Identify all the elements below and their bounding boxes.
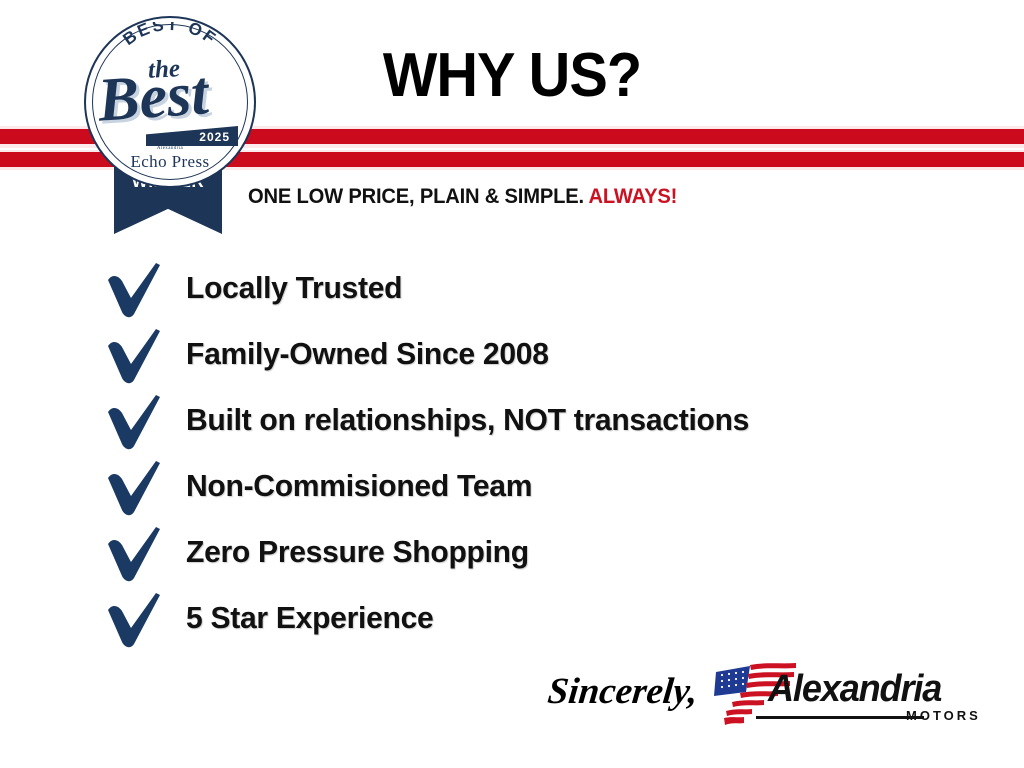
badge-script-best: Best (96, 62, 210, 132)
check-icon (104, 460, 168, 520)
badge-arc-label: BEST OF (119, 22, 220, 49)
check-icon (104, 262, 168, 322)
tagline-accent: ALWAYS! (589, 185, 678, 208)
badge-year: 2025 (199, 130, 230, 144)
check-icon (104, 328, 168, 388)
benefit-row: Family-Owned Since 2008 (104, 328, 1004, 394)
badge-circle: BEST OF the Best 2025 Alexandria Echo Pr… (84, 16, 256, 188)
benefit-label: Family-Owned Since 2008 (186, 336, 549, 372)
check-icon (104, 394, 168, 454)
benefit-row: 5 Star Experience (104, 592, 1004, 658)
badge-publication-pre: Alexandria (86, 146, 254, 151)
benefit-row: Zero Pressure Shopping (104, 526, 1004, 592)
benefit-label: Locally Trusted (186, 270, 402, 306)
dealer-rule (756, 716, 924, 719)
benefit-label: Non-Commisioned Team (186, 468, 532, 504)
dealer-logo: Alexandria MOTORS (710, 660, 968, 732)
dealer-name: Alexandria (768, 668, 941, 711)
slide-canvas: WHY US? ONE LOW PRICE, PLAIN & SIMPLE. A… (0, 0, 1024, 768)
benefit-label: 5 Star Experience (186, 600, 433, 636)
benefit-row: Built on relationships, NOT transactions (104, 394, 1004, 460)
check-icon (104, 592, 168, 652)
tagline-main: ONE LOW PRICE, PLAIN & SIMPLE. (248, 185, 584, 208)
check-icon (104, 526, 168, 586)
benefit-label: Zero Pressure Shopping (186, 534, 529, 570)
dealer-subtitle: MOTORS (906, 708, 981, 723)
benefits-list: Locally Trusted Family-Owned Since 2008 … (104, 262, 1004, 658)
benefit-row: Locally Trusted (104, 262, 1004, 328)
signoff: Sincerely, (548, 660, 968, 732)
benefit-label: Built on relationships, NOT transactions (186, 402, 749, 438)
award-badge: WINNER BEST OF the Best 2025 Alexandria … (68, 8, 268, 236)
badge-publication: Echo Press (86, 152, 254, 172)
sincerely-text: Sincerely, (546, 670, 700, 713)
tagline: ONE LOW PRICE, PLAIN & SIMPLE. ALWAYS! (248, 185, 677, 209)
benefit-row: Non-Commisioned Team (104, 460, 1004, 526)
